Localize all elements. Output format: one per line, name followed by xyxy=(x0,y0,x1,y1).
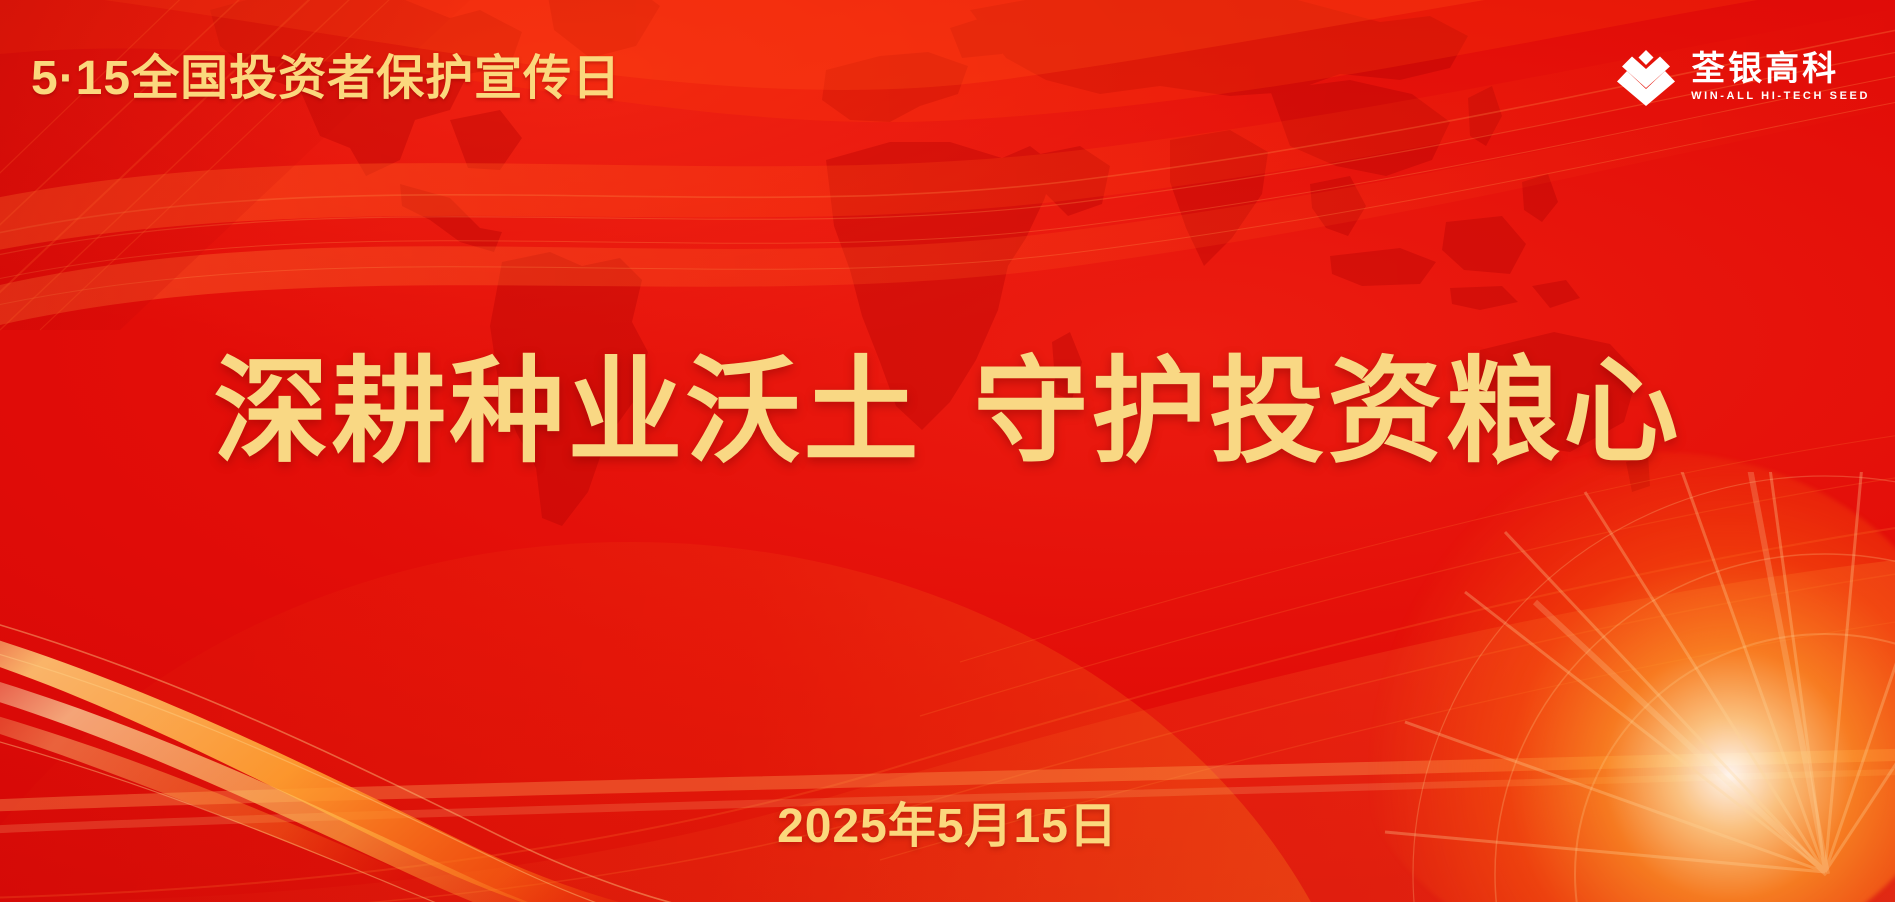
campaign-kicker: 5·15全国投资者保护宣传日 xyxy=(31,55,621,103)
poster-canvas: 5·15全国投资者保护宣传日 荃银高科 WIN-ALL HI-TECH SEED… xyxy=(0,0,1895,902)
headline-part-2: 守护投资粮心 xyxy=(974,348,1682,476)
chevron-seed-mark-icon xyxy=(1615,48,1677,106)
headline-part-1: 深耕种业沃土 xyxy=(213,348,921,476)
brand-name-en: WIN-ALL HI-TECH SEED xyxy=(1691,90,1870,102)
brand-logo: 荃银高科 WIN-ALL HI-TECH SEED xyxy=(1615,48,1870,106)
event-date: 2025年5月15日 xyxy=(0,786,1895,856)
page-title: 深耕种业沃土守护投资粮心 xyxy=(0,352,1895,473)
brand-name-cn: 荃银高科 xyxy=(1691,52,1839,88)
brand-text: 荃银高科 WIN-ALL HI-TECH SEED xyxy=(1691,52,1870,103)
